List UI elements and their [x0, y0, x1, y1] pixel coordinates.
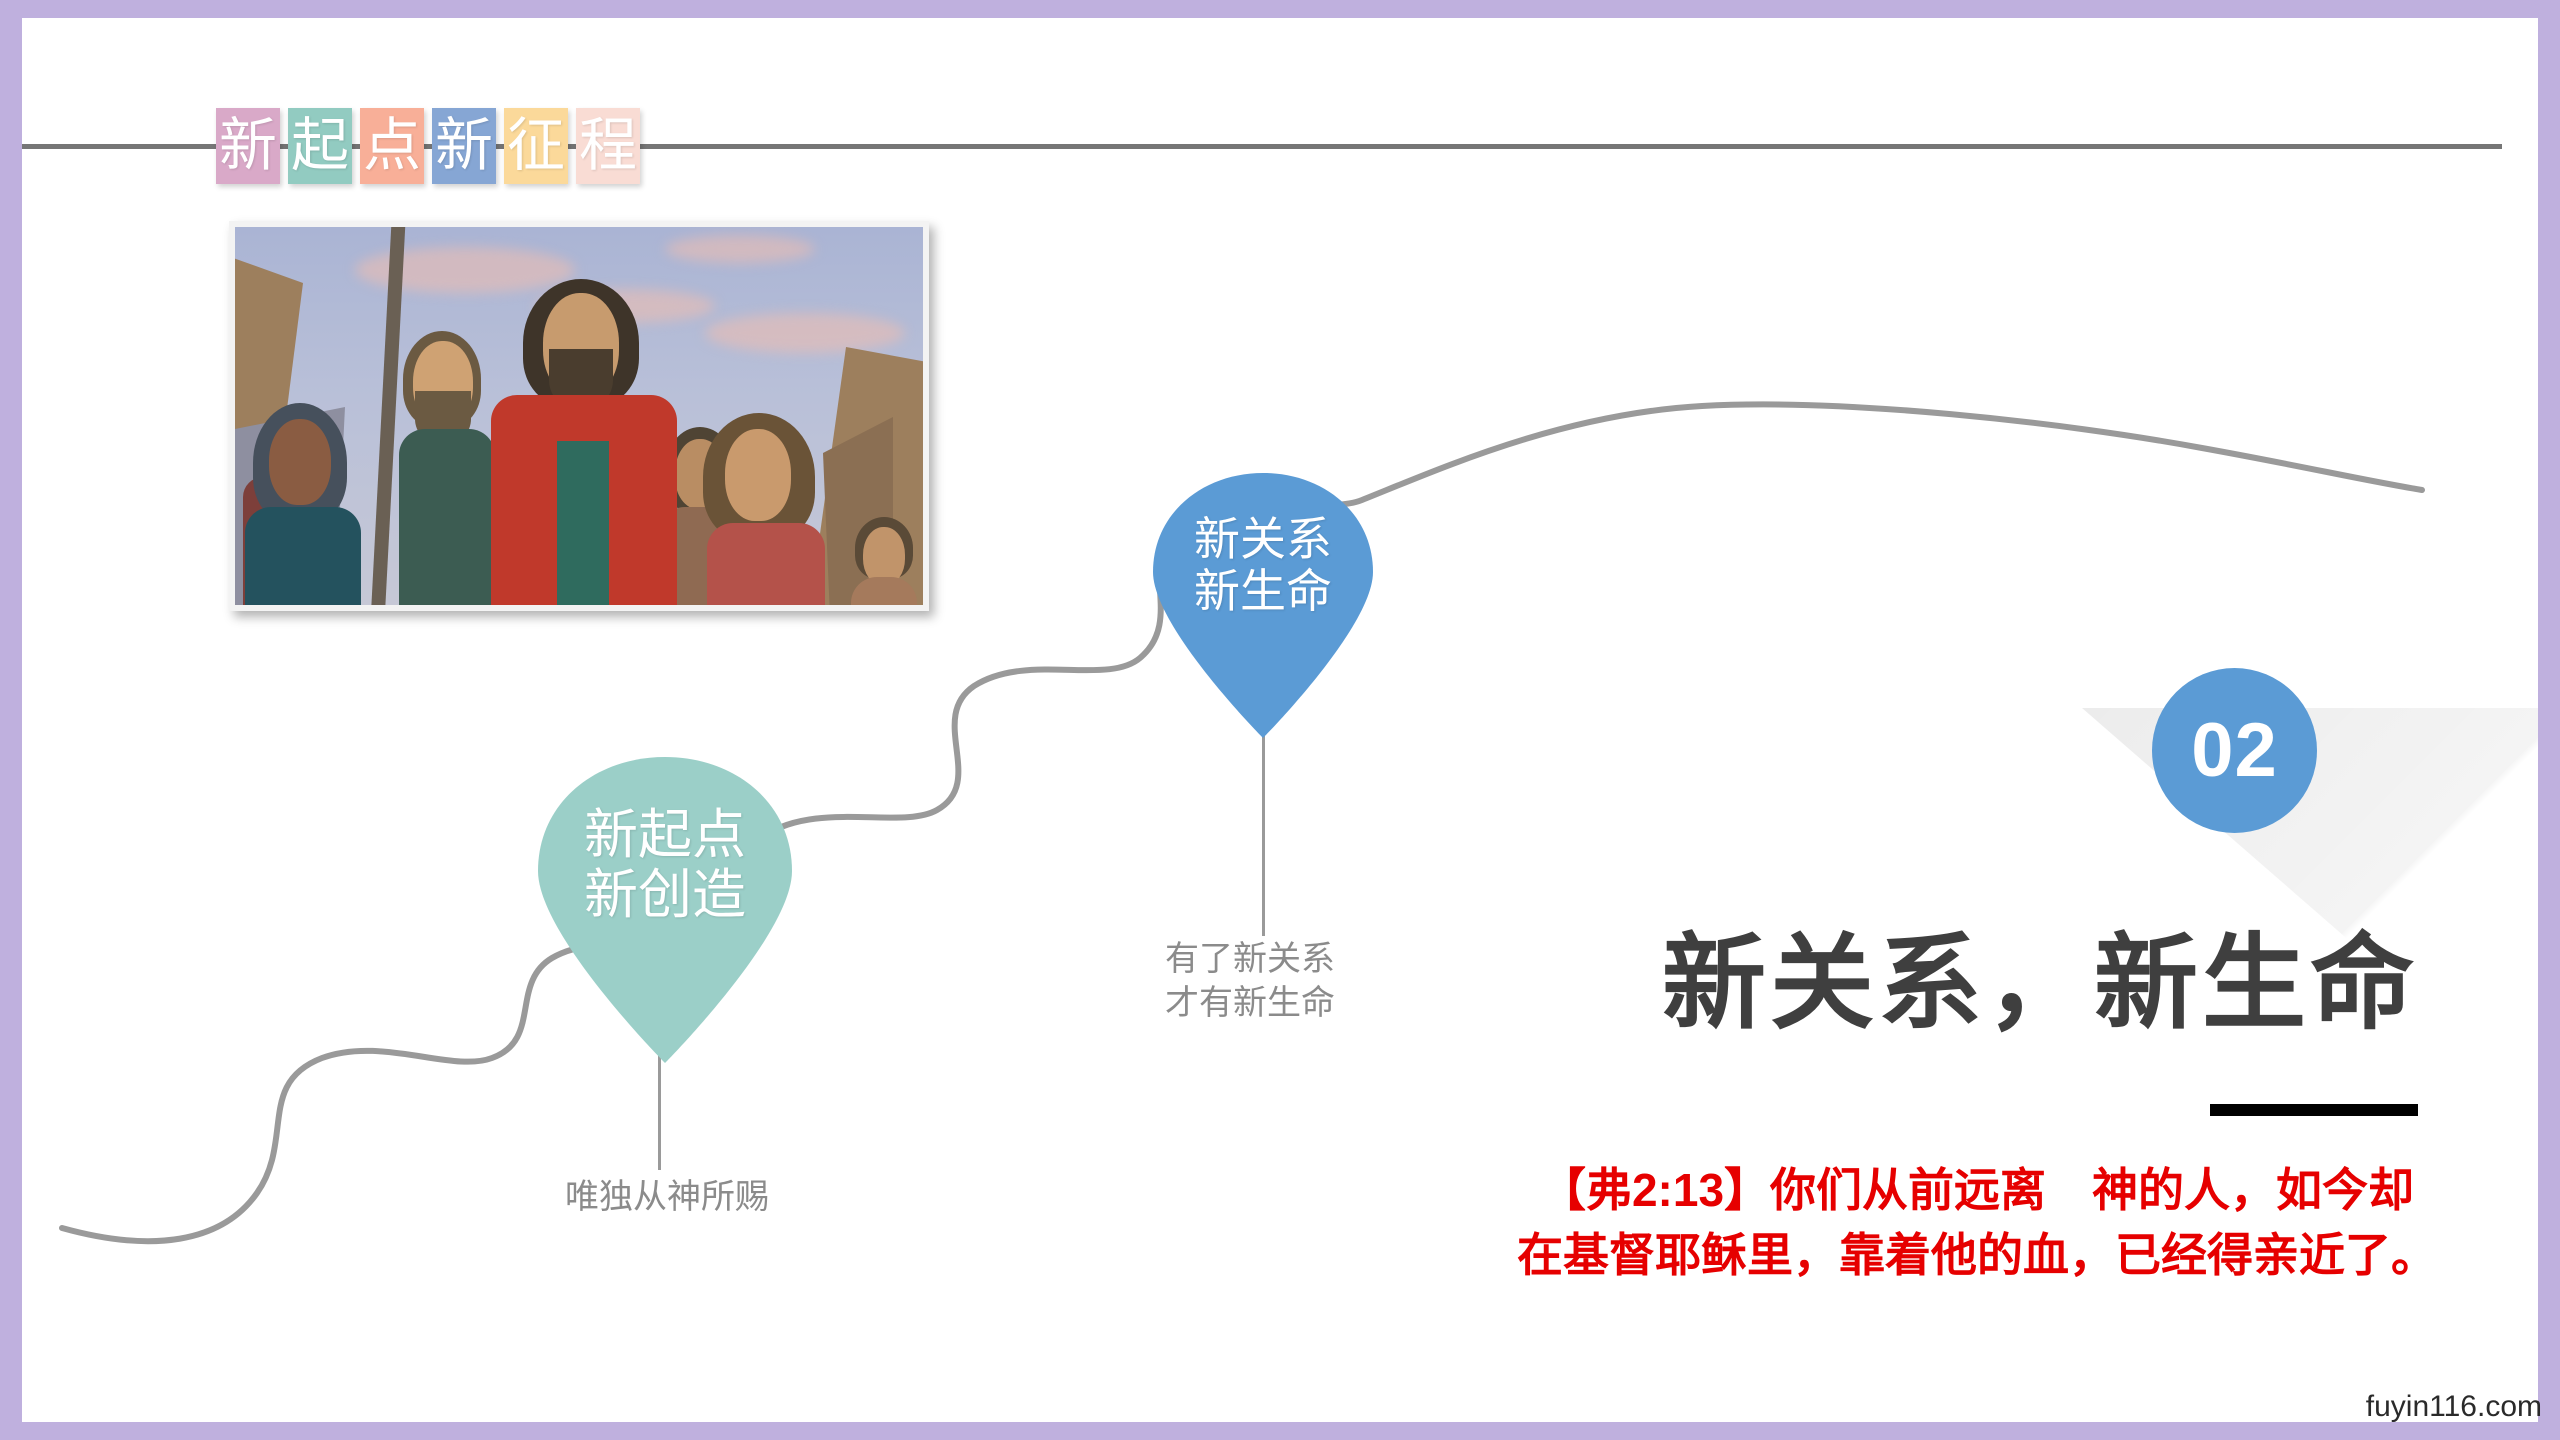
title-block-4: 征 — [504, 108, 568, 184]
title-block-char-5: 程 — [579, 117, 637, 175]
journey-pin-blue[interactable]: 新关系 新生命 — [1147, 470, 1379, 738]
title-block-char-2: 点 — [363, 117, 421, 175]
pin-caption-teal: 唯独从神所赐 — [522, 1176, 812, 1220]
figure-moses — [473, 227, 703, 605]
page-title: 新关系，新生命 — [1662, 898, 2418, 1049]
title-block-char-4: 征 — [507, 117, 565, 175]
pin-caption-blue: 有了新关系 才有新生命 — [1165, 938, 1395, 1025]
slide-canvas: 新起点 新创造 新关系 新生命 唯独从神所赐 有了新关系 才有新生命 新 — [22, 18, 2538, 1422]
title-block-1: 起 — [288, 108, 352, 184]
pin-stem-blue — [1262, 718, 1265, 936]
pin-shape-teal — [530, 753, 800, 1063]
pin-balloon-blue — [1147, 470, 1379, 738]
title-block-char-0: 新 — [219, 117, 277, 175]
journey-pin-teal[interactable]: 新起点 新创造 — [530, 753, 800, 1063]
photo-scene — [235, 227, 923, 605]
title-block-5: 程 — [576, 108, 640, 184]
slide-root: 新起点 新创造 新关系 新生命 唯独从神所赐 有了新关系 才有新生命 新 — [0, 0, 2560, 1440]
title-block-3: 新 — [432, 108, 496, 184]
section-number-text: 02 — [2191, 707, 2278, 794]
site-watermark: fuyin116.com — [2366, 1390, 2542, 1424]
scripture-verse: 【弗2:13】你们从前远离 神的人，如今却 在基督耶稣里，靠着他的血，已经得亲近… — [1422, 1158, 2532, 1289]
pin-shape-blue — [1147, 470, 1379, 738]
section-number-badge: 02 — [2152, 668, 2317, 833]
title-block-char-3: 新 — [435, 117, 493, 175]
title-block-0: 新 — [216, 108, 280, 184]
title-block-2: 点 — [360, 108, 424, 184]
lesson-photo — [229, 221, 929, 611]
title-block-strip: 新 起 点 新 征 程 — [216, 108, 640, 184]
figure-woman-left — [253, 327, 373, 605]
title-block-char-1: 起 — [291, 117, 349, 175]
figure-far-right-head — [855, 517, 923, 605]
title-underline — [2210, 1104, 2418, 1116]
figure-woman-right — [703, 347, 833, 605]
pin-balloon-teal — [530, 753, 800, 1063]
